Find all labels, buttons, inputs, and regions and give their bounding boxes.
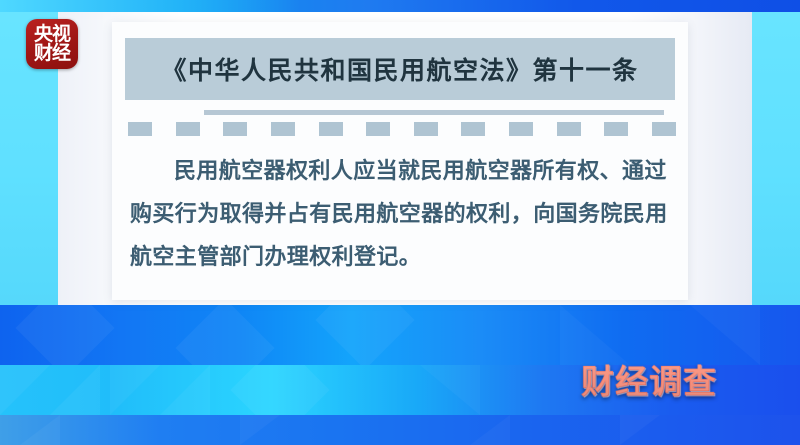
law-quote-line: 购买行为取得并占有民用航空器的权利，向国务院民用 — [130, 193, 686, 236]
dash-segment — [176, 122, 200, 136]
law-quote-line: 航空主管部门办理权利登记。 — [130, 236, 686, 279]
bottom-band-lower — [0, 415, 800, 445]
law-quote-line: 民用航空器权利人应当就民用航空器所有权、通过 — [130, 150, 686, 193]
dash-segment — [604, 122, 628, 136]
dash-segment — [223, 122, 247, 136]
dash-segment — [414, 122, 438, 136]
dashed-divider — [128, 122, 676, 136]
logo-line-2: 财经 — [34, 44, 70, 63]
cctv-finance-logo: 央视 财经 — [26, 19, 78, 69]
dash-segment — [652, 122, 676, 136]
card-title-bar: 《中华人民共和国民用航空法》第十一条 — [125, 38, 675, 100]
dash-segment — [271, 122, 295, 136]
broadcast-frame: 央视 财经 《中华人民共和国民用航空法》第十一条 民用航空器权利人应当就民用航空… — [0, 0, 800, 445]
title-underline-bar — [204, 110, 664, 115]
dash-segment — [366, 122, 390, 136]
dash-segment — [319, 122, 343, 136]
dash-segment — [461, 122, 485, 136]
card-title: 《中华人民共和国民用航空法》第十一条 — [161, 51, 638, 87]
program-badge: 财经调查 — [556, 358, 742, 400]
dash-segment — [557, 122, 581, 136]
dash-segment — [509, 122, 533, 136]
top-accent-strip — [0, 0, 800, 12]
dash-segment — [128, 122, 152, 136]
right-cyan-band — [752, 12, 800, 305]
program-badge-label: 财经调查 — [581, 355, 717, 403]
law-quote-body: 民用航空器权利人应当就民用航空器所有权、通过 购买行为取得并占有民用航空器的权利… — [130, 150, 686, 279]
